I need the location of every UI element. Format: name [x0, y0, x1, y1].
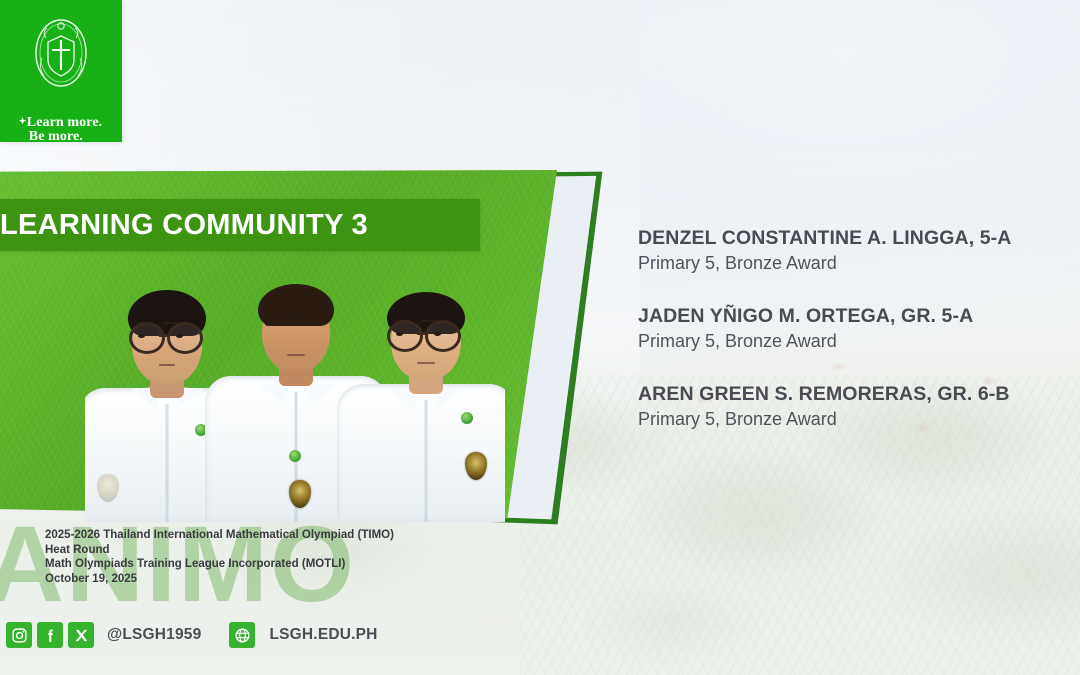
tagline-line-1: Learn more. [27, 115, 103, 130]
awardee-list: DENZEL CONSTANTINE A. LINGGA, 5-A Primar… [638, 226, 1068, 460]
website-url[interactable]: LSGH.EDU.PH [269, 626, 377, 644]
star-icon: ✦ [19, 117, 27, 126]
awardee-detail: Primary 5, Bronze Award [638, 407, 1068, 431]
awardee-detail: Primary 5, Bronze Award [638, 329, 1068, 353]
lasalle-crest-icon [30, 16, 92, 95]
event-line-2: Heat Round [45, 543, 515, 558]
social-handle[interactable]: @LSGH1959 [107, 626, 201, 644]
globe-icon[interactable] [229, 622, 255, 648]
awardee-detail: Primary 5, Bronze Award [638, 251, 1068, 275]
awardee-item: JADEN YÑIGO M. ORTEGA, GR. 5-A Primary 5… [638, 304, 1068, 353]
awardee-name: DENZEL CONSTANTINE A. LINGGA, 5-A [638, 226, 1068, 250]
facebook-icon[interactable] [37, 622, 63, 648]
event-line-1: 2025-2026 Thailand International Mathema… [45, 528, 515, 543]
instagram-icon[interactable] [6, 622, 32, 648]
awardee-name: AREN GREEN S. REMORERAS, GR. 6-B [638, 382, 1068, 406]
x-twitter-icon[interactable] [68, 622, 94, 648]
event-line-3: Math Olympiads Training League Incorpora… [45, 557, 515, 572]
awardee-item: DENZEL CONSTANTINE A. LINGGA, 5-A Primar… [638, 226, 1068, 275]
social-footer: @LSGH1959 LSGH.EDU.PH [6, 622, 378, 648]
school-logo-card[interactable]: ✦ Learn more. Be more. [0, 0, 122, 142]
students-photo [85, 262, 505, 522]
school-tagline: ✦ Learn more. Be more. [20, 116, 103, 144]
tagline-line-2: Be more. [29, 130, 103, 144]
event-line-4: October 19, 2025 [45, 572, 515, 587]
awardee-name: JADEN YÑIGO M. ORTEGA, GR. 5-A [638, 304, 1068, 328]
headline-text: LEARNING COMMUNITY 3 [0, 209, 368, 242]
awardee-item: AREN GREEN S. REMORERAS, GR. 6-B Primary… [638, 382, 1068, 431]
event-details: 2025-2026 Thailand International Mathema… [45, 528, 515, 586]
headline-banner: LEARNING COMMUNITY 3 [0, 199, 480, 251]
announcement-slide: ANIMO [0, 0, 1080, 675]
student-right [337, 270, 505, 522]
